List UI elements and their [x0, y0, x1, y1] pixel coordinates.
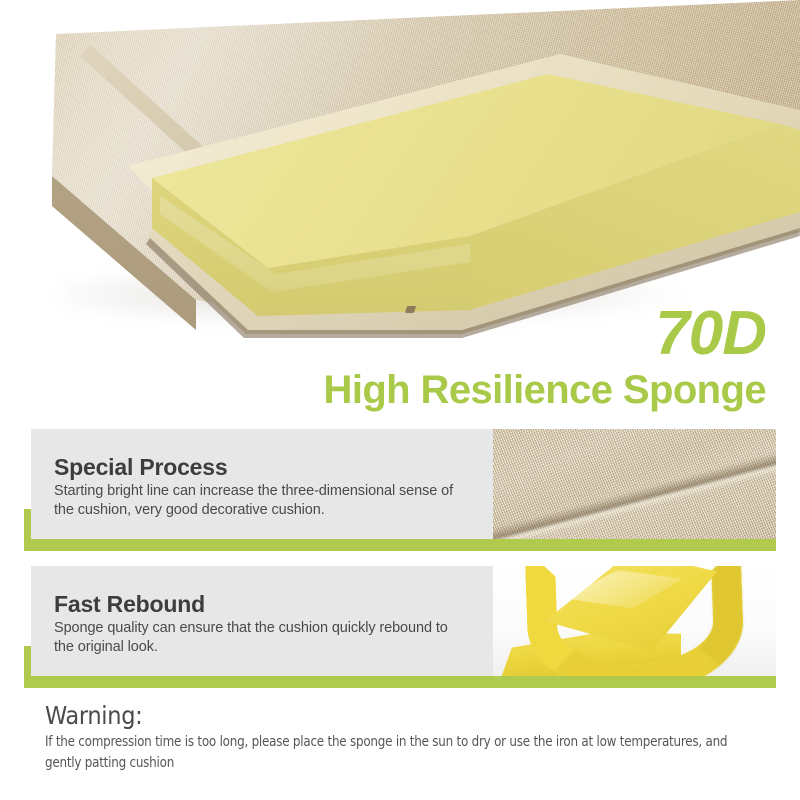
feature-panel: Special Process Starting bright line can…: [31, 429, 776, 539]
foam-photo-background: [493, 566, 776, 676]
linen-weave-texture: [493, 429, 776, 539]
warning-text: If the compression time is too long, ple…: [45, 732, 739, 775]
feature-heading: Special Process: [54, 455, 469, 479]
feature-description: Starting bright line can increase the th…: [54, 482, 469, 521]
feature-photo-foam-rebound: [493, 566, 776, 676]
feature-panel: Fast Rebound Sponge quality can ensure t…: [31, 566, 776, 676]
feature-text-area: Special Process Starting bright line can…: [31, 429, 493, 539]
feature-description: Sponge quality can ensure that the cushi…: [54, 619, 469, 658]
density-title: 70D: [655, 303, 766, 365]
feature-photo-linen-seam: [493, 429, 776, 539]
warning-section: Warning: If the compression time is too …: [45, 702, 775, 775]
page-title: High Resilience Sponge: [324, 370, 766, 410]
feature-heading: Fast Rebound: [54, 592, 469, 616]
warning-title: Warning:: [45, 702, 775, 730]
feature-text-area: Fast Rebound Sponge quality can ensure t…: [31, 566, 493, 676]
